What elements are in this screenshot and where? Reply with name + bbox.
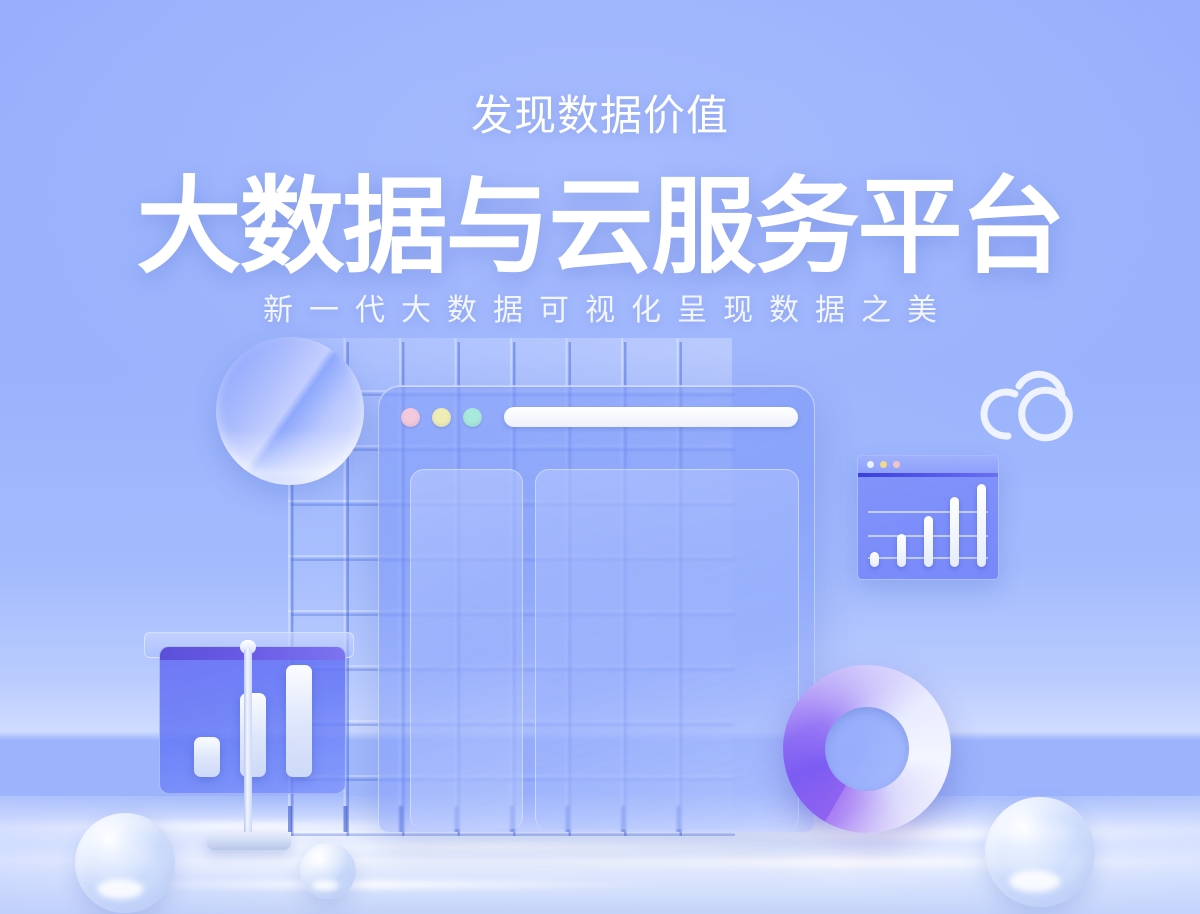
donut-ring — [783, 665, 951, 833]
subtitle-text: 新一代大数据可视化呈现数据之美 — [0, 296, 1200, 326]
address-bar-input[interactable] — [504, 407, 798, 427]
monitor-bars — [160, 665, 345, 777]
bar-4 — [950, 497, 959, 567]
browser-titlebar — [379, 386, 814, 448]
maximize-dot[interactable] — [893, 461, 900, 468]
bar-2 — [897, 534, 906, 567]
mini-chart-window[interactable] — [857, 455, 999, 580]
monitor-base — [207, 832, 291, 850]
mini-chart-bars — [870, 484, 986, 567]
mini-window-accent-rule — [858, 473, 998, 477]
close-dot[interactable] — [401, 408, 420, 427]
browser-content-panel — [535, 469, 799, 829]
page-title: 大数据与云服务平台 — [0, 175, 1200, 280]
minimize-dot[interactable] — [880, 461, 887, 468]
bar-1 — [870, 552, 879, 567]
glass-disc — [216, 337, 364, 485]
mini-window-titlebar — [858, 456, 998, 473]
bar-3 — [286, 665, 312, 777]
monitor-screen — [159, 646, 346, 794]
banner-stage: 发现数据价值 大数据与云服务平台 新一代大数据可视化呈现数据之美 — [0, 0, 1200, 914]
bar-3 — [924, 516, 933, 567]
cloud-icon — [975, 362, 1075, 444]
monitor-bar-chart — [135, 632, 361, 864]
browser-window-mockup[interactable] — [378, 385, 815, 832]
mini-chart-plot — [868, 484, 988, 567]
glass-sphere-right — [985, 797, 1095, 907]
eyebrow-text: 发现数据价值 — [0, 95, 1200, 137]
minimize-dot[interactable] — [432, 408, 451, 427]
glass-sphere-left — [75, 813, 175, 913]
browser-sidebar-panel — [410, 469, 523, 829]
glass-sphere-right-small — [300, 843, 356, 899]
maximize-dot[interactable] — [463, 408, 482, 427]
close-dot[interactable] — [867, 461, 874, 468]
bar-1 — [194, 737, 220, 777]
monitor-stand — [244, 648, 252, 838]
bar-5 — [977, 484, 986, 567]
